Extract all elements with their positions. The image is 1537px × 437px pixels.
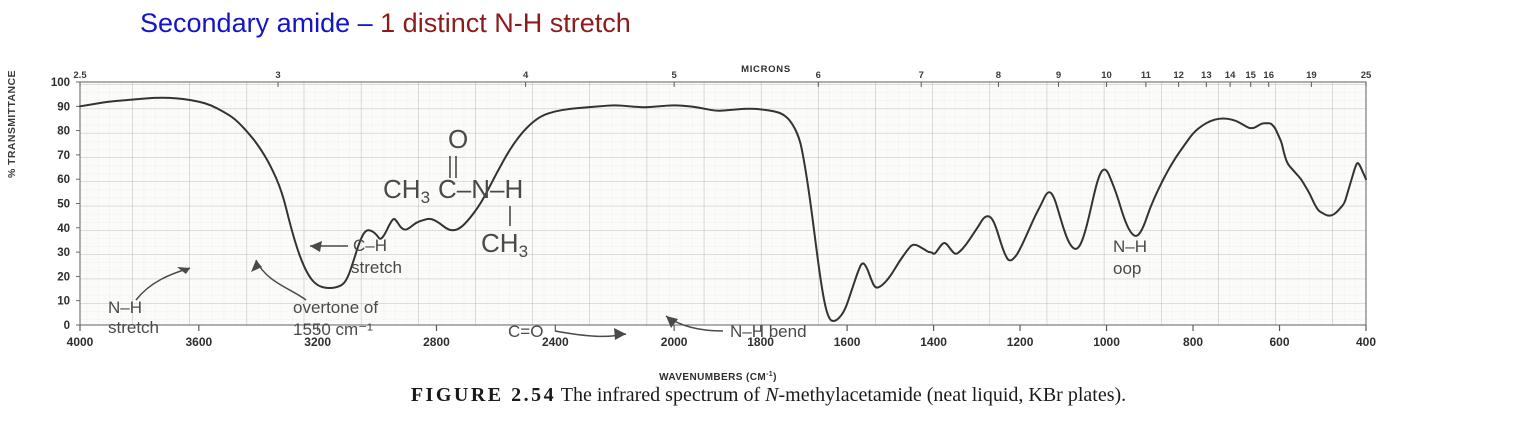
y-tick-label: 30 bbox=[57, 247, 70, 259]
micron-tick-label: 7 bbox=[919, 70, 924, 81]
x-tick-label: 1400 bbox=[920, 335, 947, 349]
y-axis-ticks: 1009080706050403020100 bbox=[51, 77, 80, 332]
micron-tick-label: 13 bbox=[1201, 70, 1212, 81]
micron-tick-label: 12 bbox=[1173, 70, 1184, 81]
svg-text:N–H bend: N–H bend bbox=[730, 322, 807, 341]
x-tick-label: 1000 bbox=[1093, 335, 1120, 349]
structure-oxygen: O bbox=[448, 124, 468, 154]
svg-text:1550 cm⁻¹: 1550 cm⁻¹ bbox=[293, 320, 373, 339]
svg-text:C=O: C=O bbox=[508, 322, 543, 341]
x-axis-title: WAVENUMBERS (CM-1) bbox=[659, 371, 777, 383]
micron-tick-label: 15 bbox=[1245, 70, 1256, 81]
svg-text:overtone of: overtone of bbox=[293, 298, 378, 317]
x-axis-ticks: 4000360032002800240020001800160014001200… bbox=[67, 325, 1377, 349]
svg-text:C–H: C–H bbox=[353, 236, 387, 255]
slide-title-highlight: 1 distinct N-H stretch bbox=[380, 8, 631, 38]
micron-tick-label: 11 bbox=[1141, 70, 1152, 81]
slide-title: Secondary amide – 1 distinct N-H stretch bbox=[140, 8, 631, 39]
micron-tick-label: 2.5 bbox=[73, 70, 87, 81]
micron-axis-title: MICRONS bbox=[741, 64, 791, 75]
figure-block: % TRANSMITTANCE 2.5345678910111213141516… bbox=[0, 52, 1537, 437]
ir-spectrum-chart: % TRANSMITTANCE 2.5345678910111213141516… bbox=[18, 60, 1418, 390]
slide-title-main: Secondary amide bbox=[140, 8, 350, 38]
x-tick-label: 600 bbox=[1270, 335, 1290, 349]
y-tick-label: 50 bbox=[57, 199, 70, 211]
x-tick-label: 2800 bbox=[423, 335, 450, 349]
x-tick-label: 800 bbox=[1183, 335, 1203, 349]
y-tick-label: 60 bbox=[57, 174, 70, 186]
micron-tick-label: 10 bbox=[1101, 70, 1112, 81]
arrowhead-co bbox=[614, 328, 626, 340]
micron-tick-label: 14 bbox=[1225, 70, 1236, 81]
caption-after: -methylacetamide (neat liquid, KBr plate… bbox=[778, 384, 1126, 406]
svg-text:oop: oop bbox=[1113, 259, 1141, 278]
micron-tick-label: 8 bbox=[996, 70, 1001, 81]
micron-tick-label: 16 bbox=[1263, 70, 1274, 81]
y-tick-label: 40 bbox=[57, 223, 70, 235]
y-tick-label: 80 bbox=[57, 126, 70, 138]
x-tick-label: 1600 bbox=[834, 335, 861, 349]
figure-caption: FIGURE 2.54 The infrared spectrum of N-m… bbox=[0, 384, 1537, 407]
figure-number: FIGURE 2.54 bbox=[411, 384, 556, 406]
micron-tick-label: 4 bbox=[523, 70, 529, 81]
y-tick-label: 10 bbox=[57, 296, 70, 308]
micron-tick-label: 25 bbox=[1361, 70, 1372, 81]
micron-tick-label: 9 bbox=[1056, 70, 1061, 81]
chart-plot-area bbox=[80, 82, 1366, 325]
spectrum-svg: 2.53456789101112131415161925 MICRONS 100… bbox=[18, 60, 1418, 390]
y-tick-label: 100 bbox=[51, 77, 70, 89]
structure-backbone: C–N–H bbox=[438, 174, 523, 204]
micron-tick-label: 19 bbox=[1306, 70, 1317, 81]
micron-tick-label: 3 bbox=[275, 70, 280, 81]
svg-text:stretch: stretch bbox=[108, 318, 159, 337]
x-tick-label: 3600 bbox=[185, 335, 212, 349]
x-tick-label: 4000 bbox=[67, 335, 94, 349]
x-tick-label: 1200 bbox=[1007, 335, 1034, 349]
caption-before: The infrared spectrum of bbox=[556, 384, 765, 406]
y-axis-label: % TRANSMITTANCE bbox=[6, 38, 18, 178]
svg-text:stretch: stretch bbox=[351, 258, 402, 277]
x-tick-label: 400 bbox=[1356, 335, 1376, 349]
micron-tick-label: 6 bbox=[816, 70, 821, 81]
y-tick-label: 20 bbox=[57, 271, 70, 283]
svg-text:N–H: N–H bbox=[1113, 237, 1147, 256]
micron-tick-label: 5 bbox=[671, 70, 677, 81]
slide-title-dash: – bbox=[350, 8, 380, 38]
x-tick-label: 2000 bbox=[661, 335, 688, 349]
svg-text:N–H: N–H bbox=[108, 298, 142, 317]
y-tick-label: 90 bbox=[57, 101, 70, 113]
x-tick-label: 2400 bbox=[542, 335, 569, 349]
y-tick-label: 70 bbox=[57, 150, 70, 162]
y-tick-label: 0 bbox=[64, 320, 70, 332]
caption-italic: N bbox=[765, 384, 778, 406]
